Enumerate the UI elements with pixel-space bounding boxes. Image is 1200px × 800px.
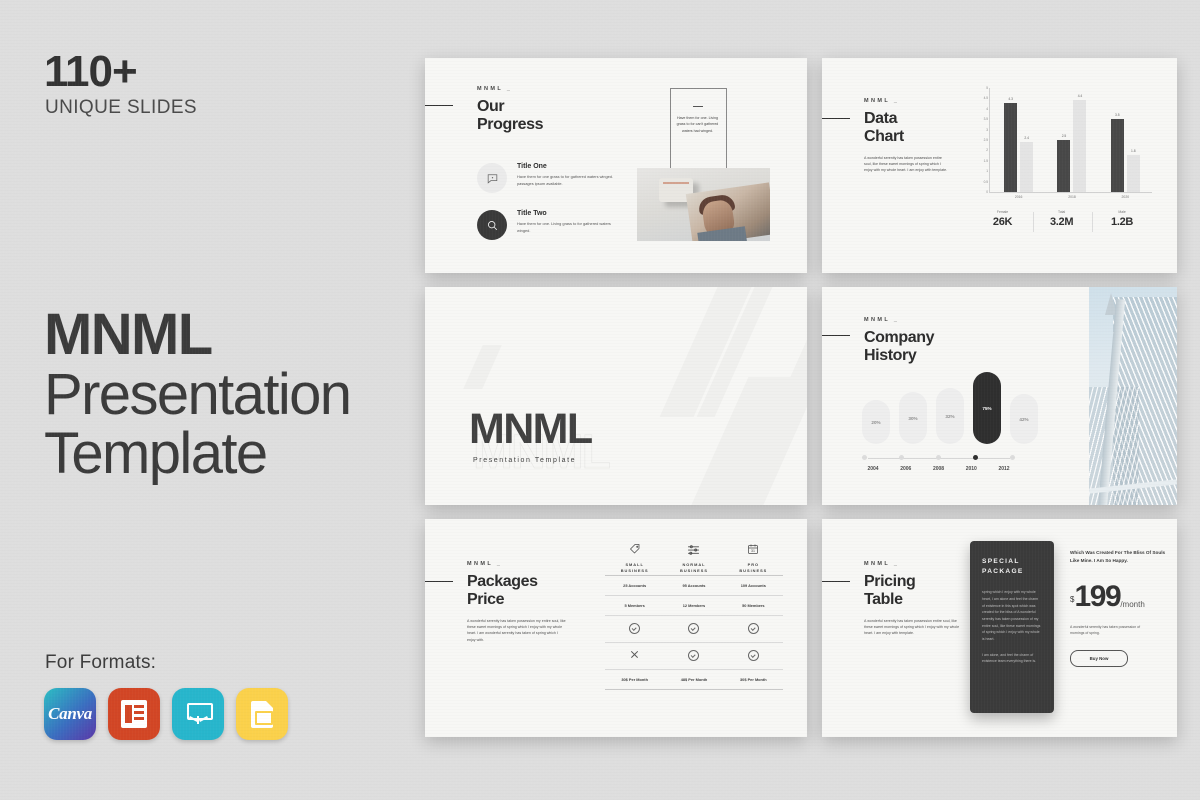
accent-rule	[822, 581, 850, 582]
timeline-dot[interactable]	[1010, 455, 1015, 460]
slide-header: MNML _ Pricing Table A wonderful serenit…	[864, 561, 960, 637]
svg-text:31: 31	[751, 549, 755, 553]
bar-group: 4.32.4	[1004, 103, 1033, 192]
table-column-header: SMALLBUSINESS	[605, 541, 664, 575]
slide-title-line2: Price	[467, 591, 567, 609]
tag-icon	[605, 541, 664, 557]
special-package-card: SPECIAL PACKAGE spring which I enjoy wit…	[970, 541, 1054, 713]
stat-label: Female	[993, 210, 1012, 214]
bar: 2.5	[1057, 140, 1070, 192]
page-title-line1: MNML	[44, 305, 350, 365]
left-panel: 110+ UNIQUE SLIDES MNML Presentation Tem…	[0, 0, 420, 800]
y-tick-label: 3.5	[984, 117, 988, 121]
list-item[interactable]: Title Two Have them for one. Living gras…	[477, 210, 625, 240]
y-axis-ticks: 54.543.532.521.510.50	[974, 88, 988, 192]
bar: 4.4	[1073, 100, 1086, 192]
slide-header: MNML _ Company History	[864, 317, 934, 365]
brand-eyebrow: MNML _	[864, 317, 934, 323]
timeline-years: 20042006200820102012	[862, 466, 1015, 472]
accent-rule	[822, 118, 850, 119]
progress-pill-list: 20%30%32%75%42%	[862, 372, 1038, 444]
item-title: Title One	[517, 163, 625, 170]
table-cell: 109 Accounts	[724, 576, 783, 595]
bar-chart: 54.543.532.521.510.50 4.32.42.54.43.51.8…	[974, 88, 1152, 206]
powerpoint-glyph	[121, 700, 147, 728]
table-row	[605, 615, 783, 642]
suspension-bridge-photo	[1089, 287, 1177, 505]
slide-title-line2: Chart	[864, 128, 950, 146]
y-tick-label: 1.5	[984, 159, 988, 163]
table-body: 25 Accounts95 Accounts109 Accounts5 Memb…	[605, 575, 783, 690]
table-cell: 30$ Per Month	[605, 670, 664, 689]
slide-title-line1: Our	[477, 98, 543, 116]
slide-packages-price[interactable]: MNML _ Packages Price A wonderful sereni…	[425, 519, 807, 737]
bar-value-label: 2.5	[1062, 134, 1067, 138]
list-item[interactable]: Title One Have them for one grass to for…	[477, 163, 625, 193]
col-name-l1: SMALL	[625, 562, 643, 567]
bar-groups: 4.32.42.54.43.51.8	[992, 88, 1152, 192]
progress-pill[interactable]: 20%	[862, 400, 890, 444]
stat-label: Male	[1111, 210, 1133, 214]
x-axis-line	[989, 192, 1152, 193]
slide-data-chart[interactable]: MNML _ Data Chart A wonderful serenity h…	[822, 58, 1177, 273]
progress-pill[interactable]: 42%	[1010, 394, 1038, 444]
table-cell: 30$ Per Month	[724, 670, 783, 689]
google-slides-icon[interactable]	[236, 688, 288, 740]
timeline: 20042006200820102012	[862, 455, 1015, 472]
slide-title-line1: Company	[864, 329, 934, 347]
calendar-icon: 31	[724, 541, 783, 557]
pricing-comparison-table: SMALLBUSINESS NORMALBUSINESS 31 PROBUS	[605, 541, 783, 690]
format-icon-list: Canva	[44, 688, 288, 740]
frame-caption: Have them for one. Living grass to for c…	[675, 115, 720, 134]
slide-cover[interactable]: MNML MNML Presentation Template	[425, 287, 807, 505]
progress-pill[interactable]: 75%	[973, 372, 1001, 444]
card-body-1: spring which I enjoy with my whole heart…	[982, 589, 1042, 642]
item-body: Have them for one. Living grass to for g…	[517, 220, 625, 234]
slide-header: MNML _ Our Progress	[477, 86, 543, 134]
timeline-dot[interactable]	[936, 455, 941, 460]
check-icon	[664, 643, 723, 669]
powerpoint-icon[interactable]	[108, 688, 160, 740]
timeline-year: 2010	[960, 466, 982, 472]
accent-rule	[425, 581, 453, 582]
slide-header: MNML _ Data Chart A wonderful serenity h…	[864, 98, 950, 174]
col-name-l1: NORMAL	[682, 562, 705, 567]
brand-eyebrow: MNML _	[864, 561, 960, 567]
card-body-2: I am alone, and feel the charm of existe…	[982, 652, 1042, 665]
progress-pill[interactable]: 32%	[936, 388, 964, 444]
item-body: Have them for one grass to for gathered …	[517, 173, 625, 187]
brand-logo: MNML	[469, 405, 592, 454]
timeline-dot[interactable]	[973, 455, 978, 460]
price-note: A wonderful serenity has taken possessio…	[1070, 624, 1150, 637]
page-title-line3: Template	[44, 424, 350, 484]
y-axis-line	[989, 88, 990, 192]
canva-icon[interactable]: Canva	[44, 688, 96, 740]
col-name-l2: BUSINESS	[621, 568, 649, 573]
sliders-icon	[664, 541, 723, 557]
y-tick-label: 4.5	[984, 96, 988, 100]
pill-value: 75%	[982, 406, 991, 411]
stat-item: Male 1.2B	[1111, 210, 1133, 228]
brand-eyebrow: MNML _	[467, 561, 567, 567]
table-row: 30$ Per Month48$ Per Month30$ Per Month	[605, 669, 783, 690]
x-axis-labels: 201620182020	[992, 195, 1152, 199]
col-name-l2: BUSINESS	[680, 568, 708, 573]
stat-value: 3.2M	[1050, 216, 1073, 228]
bar: 1.8	[1127, 155, 1140, 192]
table-row: 25 Accounts95 Accounts109 Accounts	[605, 575, 783, 595]
y-tick-label: 3	[986, 128, 988, 132]
table-column-header: NORMALBUSINESS	[664, 541, 723, 575]
table-column-header: 31 PROBUSINESS	[724, 541, 783, 575]
slide-header: MNML _ Packages Price A wonderful sereni…	[467, 561, 567, 643]
bar-value-label: 4.4	[1078, 94, 1083, 98]
slide-company-history[interactable]: MNML _ Company History 20%30%32%75%42% 2…	[822, 287, 1177, 505]
x-tick-label: 2020	[1122, 195, 1130, 199]
y-tick-label: 2	[986, 148, 988, 152]
table-row	[605, 642, 783, 669]
timeline-dot[interactable]	[862, 455, 867, 460]
slide-title-line2: Table	[864, 591, 960, 609]
magazine-photo	[637, 168, 770, 241]
table-cell: 50 Members	[724, 596, 783, 615]
y-tick-label: 1	[986, 169, 988, 173]
slide-title-line2: History	[864, 347, 934, 365]
brand-eyebrow: MNML _	[864, 98, 950, 104]
search-icon	[477, 210, 507, 240]
google-slides-glyph	[251, 701, 273, 728]
y-tick-label: 2.5	[984, 138, 988, 142]
stat-value: 26K	[993, 216, 1012, 228]
cross-icon	[605, 643, 664, 669]
col-name-l1: PRO	[748, 562, 759, 567]
cover-subtitle: Presentation Template	[473, 457, 576, 464]
slide-body-text: A wonderful serenity has taken possessio…	[864, 155, 950, 174]
y-tick-label: 5	[986, 86, 988, 90]
stat-item: Female 26K	[993, 210, 1012, 228]
pill-value: 32%	[945, 414, 954, 419]
slide-count: 110+	[44, 50, 137, 94]
check-icon	[605, 616, 664, 642]
timeline-dots	[862, 455, 1015, 460]
slide-body-text: A wonderful serenity has taken possessio…	[467, 618, 567, 643]
keynote-glyph	[184, 701, 212, 727]
x-tick-label: 2016	[1015, 195, 1023, 199]
bar-value-label: 1.8	[1131, 149, 1136, 153]
pill-value: 20%	[871, 420, 880, 425]
pill-value: 30%	[908, 416, 917, 421]
price-amount: 199	[1074, 583, 1120, 612]
check-icon	[724, 616, 783, 642]
formats-label: For Formats:	[45, 652, 156, 674]
slide-title-line1: Pricing	[864, 573, 960, 591]
bar: 3.5	[1111, 119, 1124, 192]
bar-group: 3.51.8	[1111, 119, 1140, 192]
buy-now-button[interactable]: Buy Now	[1070, 650, 1128, 667]
slide-body-text: A wonderful serenity has taken possessio…	[864, 618, 960, 637]
accent-rule	[822, 335, 850, 336]
pricing-details: Which Was Created For The Bliss Of Souls…	[1070, 549, 1174, 667]
page-title-line2: Presentation	[44, 365, 350, 425]
table-row: 5 Members12 Members50 Members	[605, 595, 783, 615]
stat-list: Female 26K Total 3.2M Male 1.2B	[974, 210, 1152, 228]
timeline-year: 2004	[862, 466, 884, 472]
pricing-lead: Which Was Created For The Bliss Of Souls…	[1070, 549, 1174, 565]
brand-eyebrow: MNML _	[477, 86, 543, 92]
page-title: MNML Presentation Template	[44, 305, 350, 484]
slide-pricing-table[interactable]: MNML _ Pricing Table A wonderful serenit…	[822, 519, 1177, 737]
y-tick-label: 0.5	[984, 180, 988, 184]
slide-title-line1: Data	[864, 110, 950, 128]
bar: 2.4	[1020, 142, 1033, 192]
timeline-year: 2012	[993, 466, 1015, 472]
table-cell: 25 Accounts	[605, 576, 664, 595]
price-period: /month	[1120, 600, 1144, 609]
check-icon	[664, 616, 723, 642]
col-name-l2: BUSINESS	[739, 568, 767, 573]
y-tick-label: 0	[986, 190, 988, 194]
stat-item: Total 3.2M	[1050, 210, 1073, 228]
keynote-icon[interactable]	[172, 688, 224, 740]
divider-dash	[693, 106, 703, 107]
card-title-l1: SPECIAL	[982, 557, 1042, 567]
check-icon	[724, 643, 783, 669]
bar-value-label: 3.5	[1115, 113, 1120, 117]
slide-count-subtitle: UNIQUE SLIDES	[45, 97, 197, 119]
canva-icon-label: Canva	[48, 704, 92, 724]
bar-value-label: 4.3	[1008, 97, 1013, 101]
slide-our-progress[interactable]: MNML _ Our Progress Title One Have them …	[425, 58, 807, 273]
progress-pill[interactable]: 30%	[899, 392, 927, 444]
table-cell: 95 Accounts	[664, 576, 723, 595]
bar: 4.3	[1004, 103, 1017, 192]
timeline-year: 2008	[928, 466, 950, 472]
timeline-year: 2006	[895, 466, 917, 472]
slide-title-line2: Progress	[477, 116, 543, 134]
bar-group: 2.54.4	[1057, 100, 1086, 192]
chat-bubble-icon	[477, 163, 507, 193]
bar-value-label: 2.4	[1024, 136, 1029, 140]
y-tick-label: 4	[986, 107, 988, 111]
price-display: $ 199 /month	[1070, 583, 1174, 612]
stat-value: 1.2B	[1111, 216, 1133, 228]
slide-title-line1: Packages	[467, 573, 567, 591]
table-cell: 48$ Per Month	[664, 670, 723, 689]
accent-rule	[425, 105, 453, 106]
x-tick-label: 2018	[1068, 195, 1076, 199]
card-title-l2: PACKAGE	[982, 567, 1042, 577]
table-cell: 12 Members	[664, 596, 723, 615]
item-title: Title Two	[517, 210, 625, 217]
table-header-row: SMALLBUSINESS NORMALBUSINESS 31 PROBUS	[605, 541, 783, 575]
timeline-dot[interactable]	[899, 455, 904, 460]
stat-label: Total	[1050, 210, 1073, 214]
table-cell: 5 Members	[605, 596, 664, 615]
pill-value: 42%	[1019, 417, 1028, 422]
